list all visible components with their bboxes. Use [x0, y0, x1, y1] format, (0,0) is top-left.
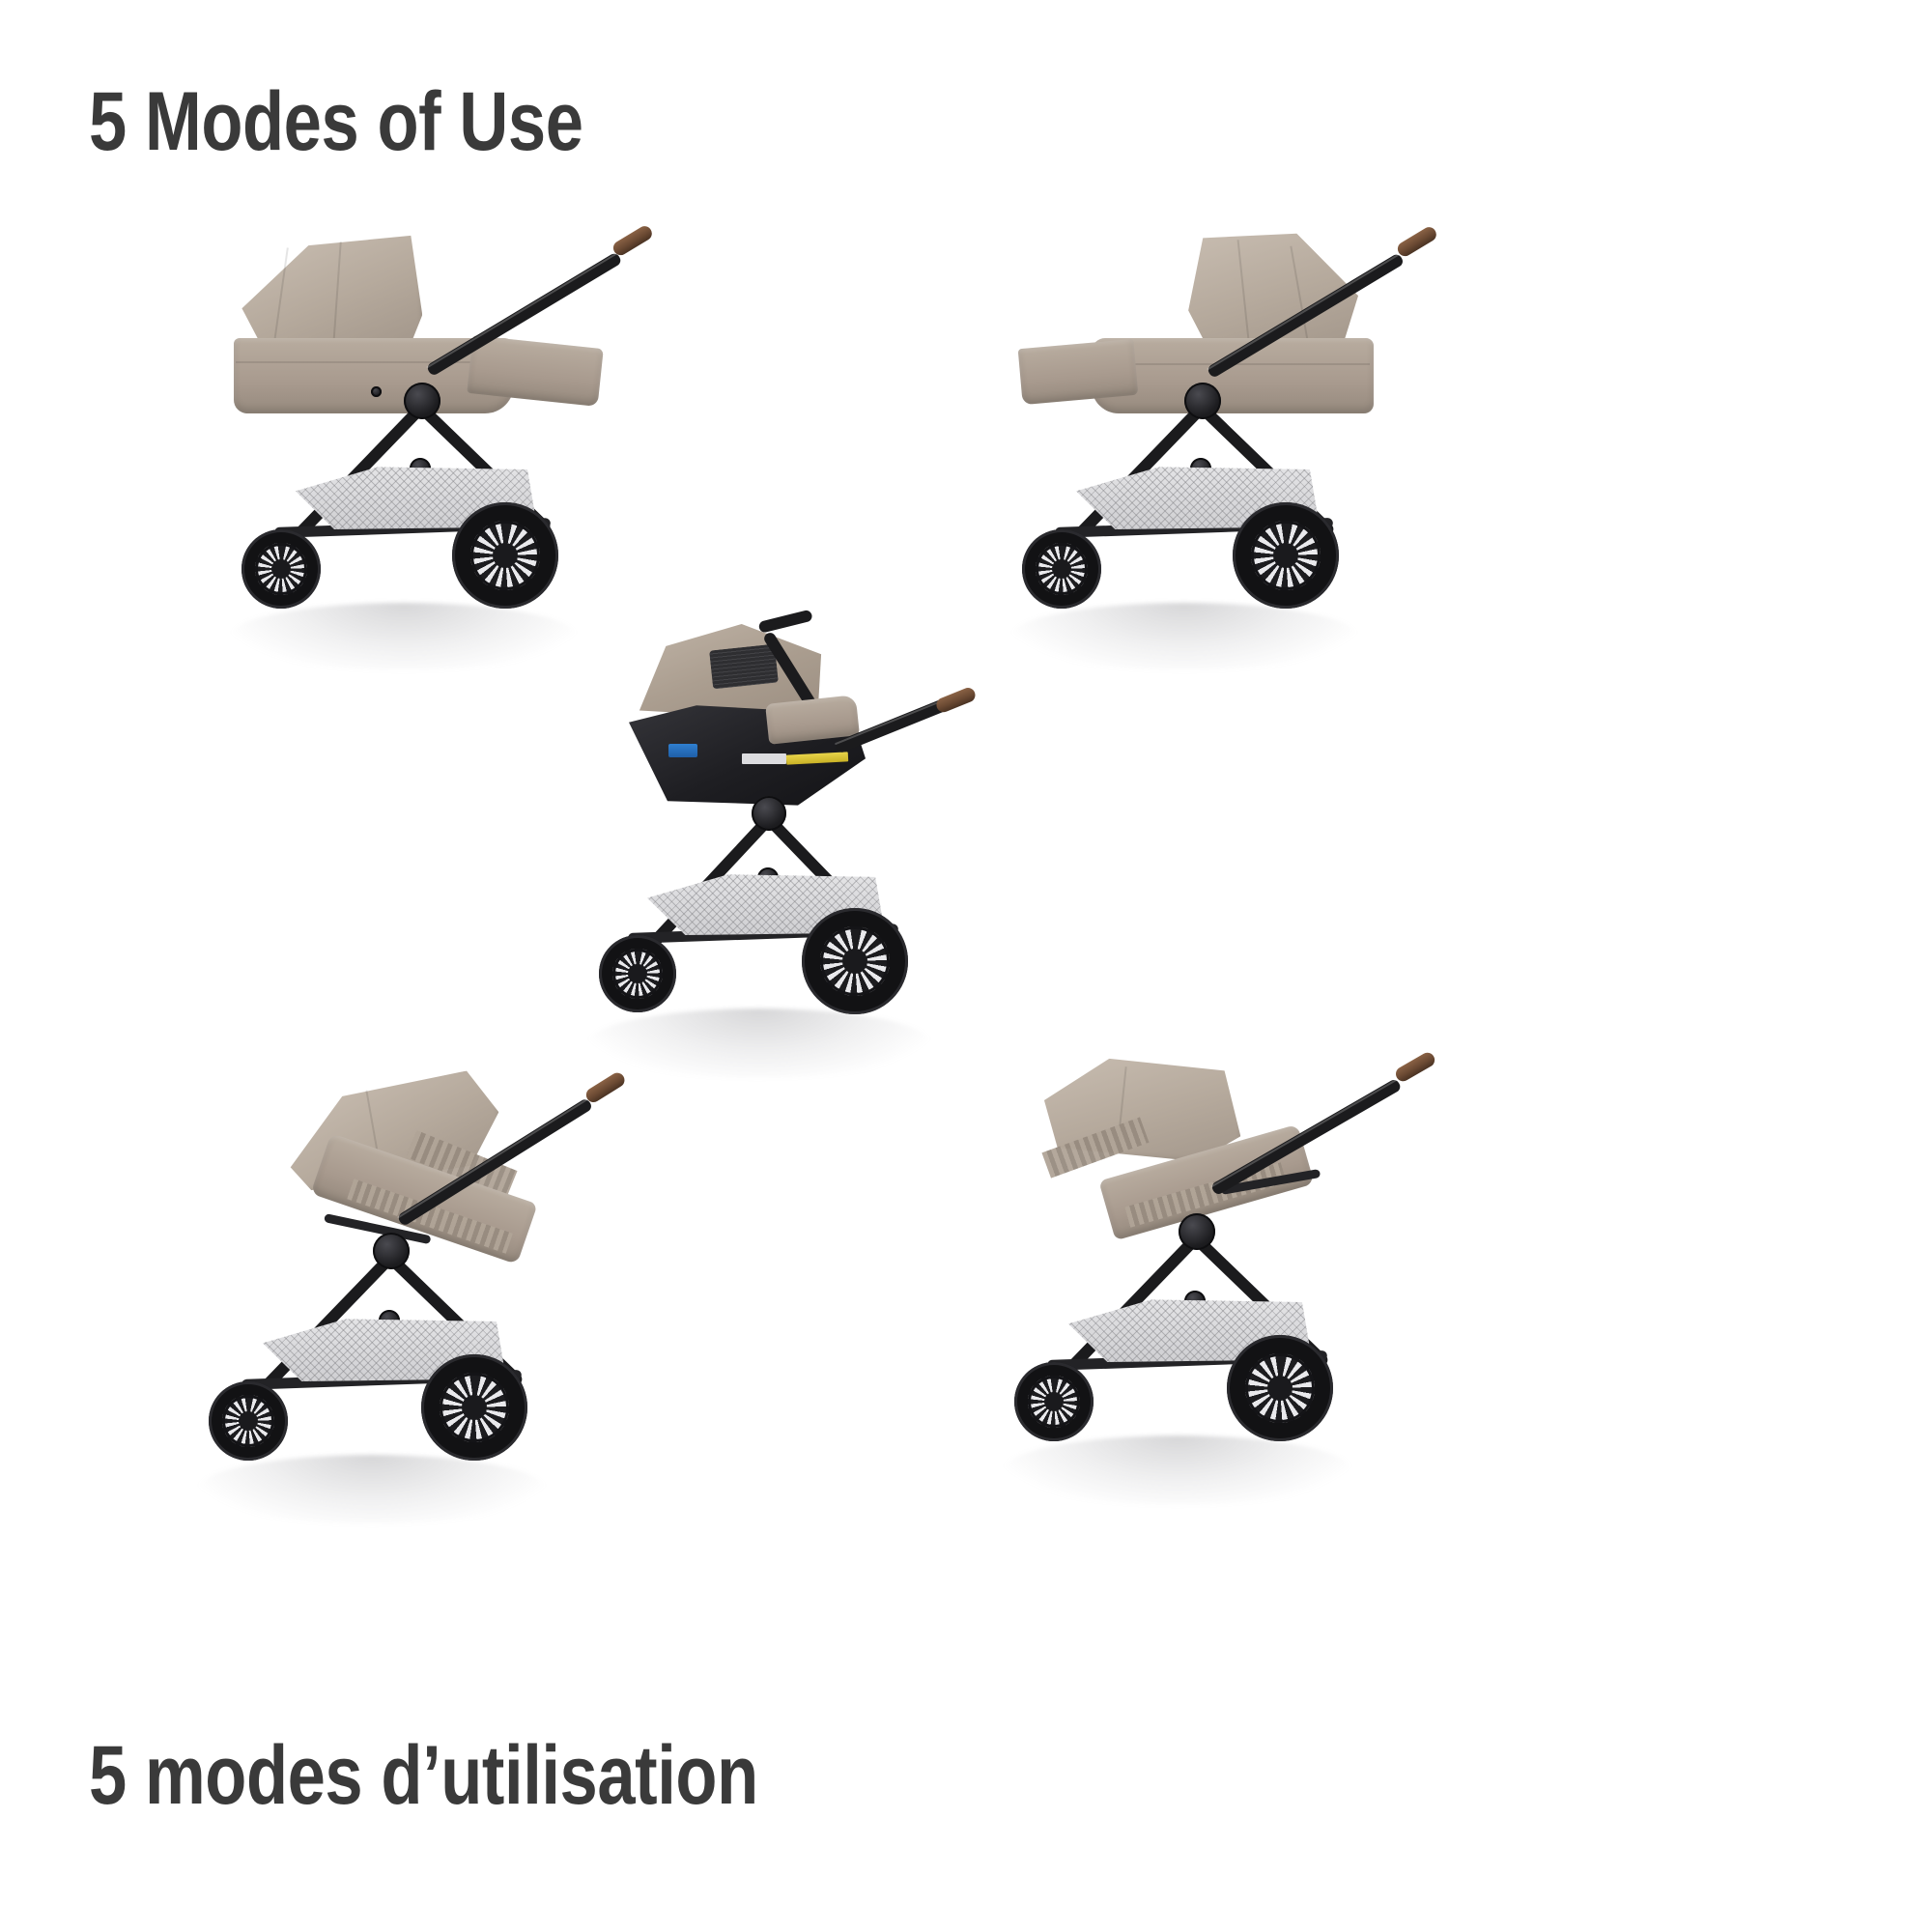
mode-toddler-seat-parent-facing: [1003, 1041, 1447, 1544]
canopy-mesh-window: [709, 644, 779, 690]
rear-wheel: [802, 908, 908, 1014]
floor-reflection: [1010, 603, 1358, 670]
product-feature-image: 5 Modes of Use 5 modes d’utilisation: [0, 0, 1932, 1932]
handle-grip[interactable]: [934, 686, 978, 715]
front-wheel-cap: [239, 1411, 258, 1431]
front-wheel: [1022, 529, 1101, 609]
floor-reflection: [1003, 1435, 1352, 1505]
floor-reflection: [230, 603, 578, 670]
handle-grip[interactable]: [611, 223, 654, 258]
rear-wheel: [452, 502, 558, 609]
front-wheel-cap: [271, 559, 291, 579]
stroller-illustration: [1003, 220, 1447, 723]
mode-toddler-seat-world-facing: [201, 1061, 645, 1563]
rear-wheel: [1227, 1335, 1333, 1441]
front-wheel: [209, 1381, 288, 1461]
front-wheel-cap: [628, 964, 646, 982]
handle-grip[interactable]: [1395, 224, 1438, 259]
rear-wheel: [421, 1354, 527, 1461]
rear-wheel: [1233, 502, 1339, 609]
front-wheel: [241, 529, 321, 609]
frame-pivot-hinge[interactable]: [1179, 1213, 1215, 1250]
stroller-illustration: [597, 607, 1041, 1109]
frame-pivot-hinge[interactable]: [373, 1233, 410, 1269]
front-wheel-cap: [1052, 559, 1071, 579]
bassinet-front-flap: [1018, 339, 1139, 405]
stroller-illustration: [201, 1061, 645, 1563]
mode-infant-car-seat: [597, 607, 1041, 1109]
stroller-illustration: [1003, 1041, 1447, 1544]
frame-pivot-hinge[interactable]: [1184, 383, 1221, 419]
bassinet-seam: [236, 361, 508, 363]
carry-handle[interactable]: [758, 610, 813, 634]
page-title-english: 5 Modes of Use: [89, 75, 583, 168]
car-seat-blue-label: [668, 744, 697, 757]
mode-bassinet-world-facing: [1003, 220, 1447, 723]
front-wheel-cap: [1044, 1392, 1064, 1411]
car-seat-info-label: [742, 753, 786, 764]
floor-reflection: [197, 1455, 547, 1524]
page-title-french: 5 modes d’utilisation: [89, 1729, 758, 1822]
front-wheel: [1014, 1362, 1094, 1441]
frame-pivot-hinge[interactable]: [404, 383, 440, 419]
bassinet-release-button[interactable]: [371, 386, 382, 397]
front-wheel: [599, 935, 676, 1012]
car-seat-adapter-hinge[interactable]: [752, 796, 786, 831]
handle-grip[interactable]: [1393, 1050, 1437, 1084]
handle-grip[interactable]: [583, 1070, 627, 1105]
